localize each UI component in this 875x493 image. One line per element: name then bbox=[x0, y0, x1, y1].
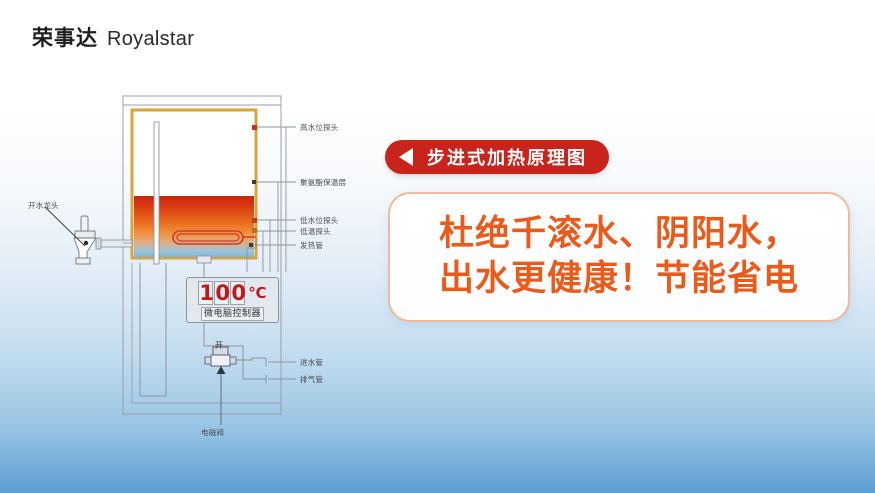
headline-card: 杜绝千滚水、阴阳水， 出水更健康！节能省电 bbox=[388, 192, 850, 322]
headline-line-2: 出水更健康！节能省电 bbox=[439, 257, 799, 302]
label-faucet: 开水龙头 bbox=[28, 200, 59, 211]
label-exhaust-pipe: 排气管 bbox=[300, 374, 323, 385]
wire-low-temp-probe bbox=[257, 231, 263, 272]
label-low-level-probe: 低水位探头 bbox=[300, 215, 339, 226]
insulation-marker bbox=[252, 180, 256, 184]
wire-low-level-probe bbox=[257, 220, 270, 272]
tank-water bbox=[134, 196, 254, 257]
label-inlet-pipe: 进水管 bbox=[300, 357, 323, 368]
faucet-spout-base bbox=[76, 258, 90, 264]
tank-bottom-outlet bbox=[197, 256, 211, 263]
solenoid-valve-port-right bbox=[230, 357, 236, 364]
solenoid-valve-body bbox=[211, 355, 230, 366]
outlet-pipe-collar bbox=[96, 238, 101, 249]
label-insulation: 聚氨酯保温层 bbox=[300, 177, 346, 188]
heating-tube-marker bbox=[249, 243, 253, 247]
left-triangle-icon bbox=[399, 148, 413, 166]
label-valve-state: 开 bbox=[215, 340, 223, 351]
temperature-display: 1 0 0 ℃ bbox=[198, 281, 266, 305]
cabinet-top-rail bbox=[123, 96, 281, 105]
microcomputer-controller: 1 0 0 ℃ 微电脑控制器 bbox=[186, 277, 279, 323]
label-high-level-probe: 高水位探头 bbox=[300, 122, 339, 133]
wire-insulation-sense bbox=[256, 182, 278, 272]
level-probe-rod bbox=[154, 122, 159, 264]
section-title-text: 步进式加热原理图 bbox=[427, 144, 587, 170]
wire-high-level-probe bbox=[257, 127, 286, 272]
temp-unit: ℃ bbox=[248, 284, 266, 302]
pipe-inlet bbox=[236, 358, 266, 360]
label-solenoid-valve: 电磁阀 bbox=[201, 427, 224, 438]
temp-digit-hundreds: 1 bbox=[198, 281, 213, 305]
section-title-banner: 步进式加热原理图 bbox=[385, 140, 609, 174]
faucet-seal-dot bbox=[84, 241, 88, 245]
pipe-manifold-left bbox=[140, 263, 166, 396]
label-low-temp-probe: 低温探头 bbox=[300, 226, 331, 237]
high-level-probe-marker bbox=[252, 125, 257, 130]
temp-digit-tens: 0 bbox=[214, 281, 229, 305]
label-heating-tube: 发热管 bbox=[300, 240, 323, 251]
solenoid-valve-port-left bbox=[205, 357, 211, 364]
faucet-cap bbox=[75, 231, 95, 238]
headline-line-1: 杜绝千滚水、阴阳水， bbox=[439, 212, 799, 257]
faucet-pointer-line bbox=[45, 207, 85, 246]
faucet-handle bbox=[81, 216, 88, 232]
water-flow-arrow-icon bbox=[217, 366, 226, 374]
low-level-probe-marker bbox=[252, 218, 257, 223]
low-temp-probe-marker bbox=[252, 228, 257, 233]
controller-name-plate: 微电脑控制器 bbox=[201, 307, 264, 321]
temp-digit-ones: 0 bbox=[230, 281, 245, 305]
